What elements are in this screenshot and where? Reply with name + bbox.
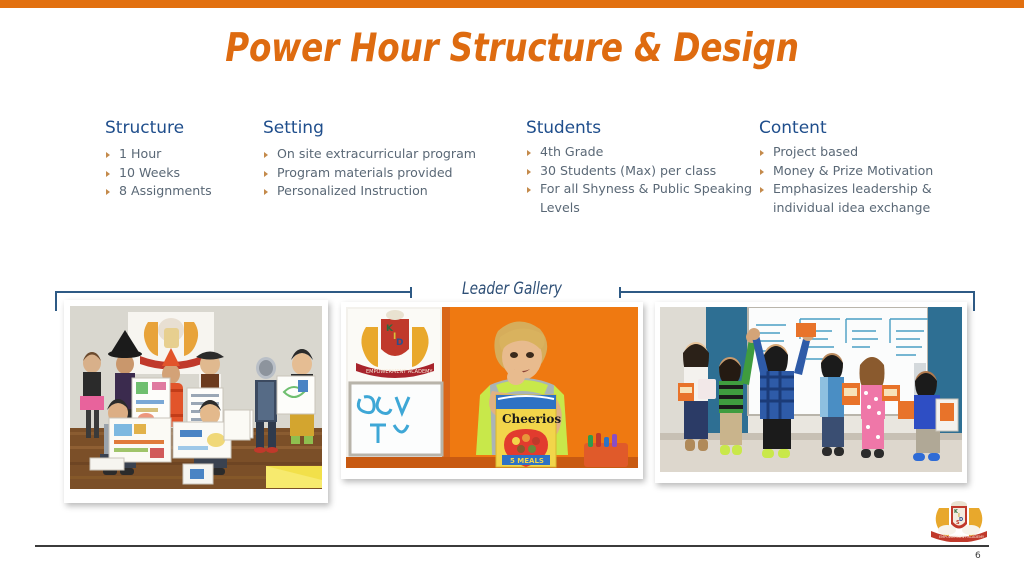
list-item: Personalized Instruction — [263, 182, 523, 201]
gallery-photo-1 — [64, 300, 328, 503]
column-students: Students 4th Grade 30 Students (Max) per… — [526, 118, 756, 217]
list-item: Program materials provided — [263, 164, 523, 183]
column-heading: Students — [526, 118, 756, 138]
gallery-photo-3 — [655, 302, 967, 483]
photo-image-cereal-presentation: K I D S EMPOWERMENT ACADEMY — [346, 307, 638, 468]
svg-text:5 MEALS: 5 MEALS — [510, 457, 544, 465]
column-heading: Structure — [105, 118, 255, 138]
photo-svg-costumes — [70, 306, 322, 489]
list-item: Emphasizes leadership & individual idea … — [759, 180, 989, 217]
svg-text:S: S — [392, 346, 398, 356]
bullet-list: On site extracurricular program Program … — [263, 145, 523, 201]
page-number: 6 — [975, 551, 1005, 561]
column-content: Content Project based Money & Prize Moti… — [759, 118, 989, 217]
bullet-list: Project based Money & Prize Motivation E… — [759, 143, 989, 217]
column-setting: Setting On site extracurricular program … — [263, 118, 523, 201]
svg-text:EMPOWERMENT ACADEMY: EMPOWERMENT ACADEMY — [366, 369, 433, 375]
crest-banner-text: EMPOWERMENT ACADEMY — [939, 535, 985, 539]
footer-divider — [35, 545, 989, 547]
list-item: 4th Grade — [526, 143, 756, 162]
list-item: On site extracurricular program — [263, 145, 523, 164]
column-structure: Structure 1 Hour 10 Weeks 8 Assignments — [105, 118, 255, 201]
list-item: Project based — [759, 143, 989, 162]
kids-empowerment-academy-crest-icon: K I D S EMPOWERMENT ACADEMY — [925, 500, 993, 542]
bullet-list: 1 Hour 10 Weeks 8 Assignments — [105, 145, 255, 201]
photo-image-classroom-group — [660, 307, 962, 472]
list-item: For all Shyness & Public Speaking Levels — [526, 180, 756, 217]
photo-image-costumes — [70, 306, 322, 489]
list-item: 30 Students (Max) per class — [526, 162, 756, 181]
column-heading: Setting — [263, 118, 523, 138]
photo-svg-cereal: K I D S EMPOWERMENT ACADEMY — [346, 307, 638, 468]
list-item: 10 Weeks — [105, 164, 255, 183]
column-heading: Content — [759, 118, 989, 138]
photo-svg-classroom — [660, 307, 962, 472]
info-columns: Structure 1 Hour 10 Weeks 8 Assignments … — [13, 100, 1011, 241]
list-item: Money & Prize Motivation — [759, 162, 989, 181]
gallery-title: Leader Gallery — [41, 279, 983, 298]
slide: Power Hour Structure & Design Structure … — [0, 0, 1024, 574]
page-title: Power Hour Structure & Design — [36, 26, 988, 71]
bullet-list: 4th Grade 30 Students (Max) per class Fo… — [526, 143, 756, 217]
svg-text:D: D — [959, 517, 963, 523]
crest-svg: K I D S EMPOWERMENT ACADEMY — [925, 500, 993, 542]
svg-text:S: S — [956, 520, 960, 526]
list-item: 8 Assignments — [105, 182, 255, 201]
top-accent-bar — [0, 0, 1024, 8]
gallery-photo-2: K I D S EMPOWERMENT ACADEMY — [341, 302, 643, 479]
svg-text:Cheerios: Cheerios — [502, 412, 561, 426]
list-item: 1 Hour — [105, 145, 255, 164]
